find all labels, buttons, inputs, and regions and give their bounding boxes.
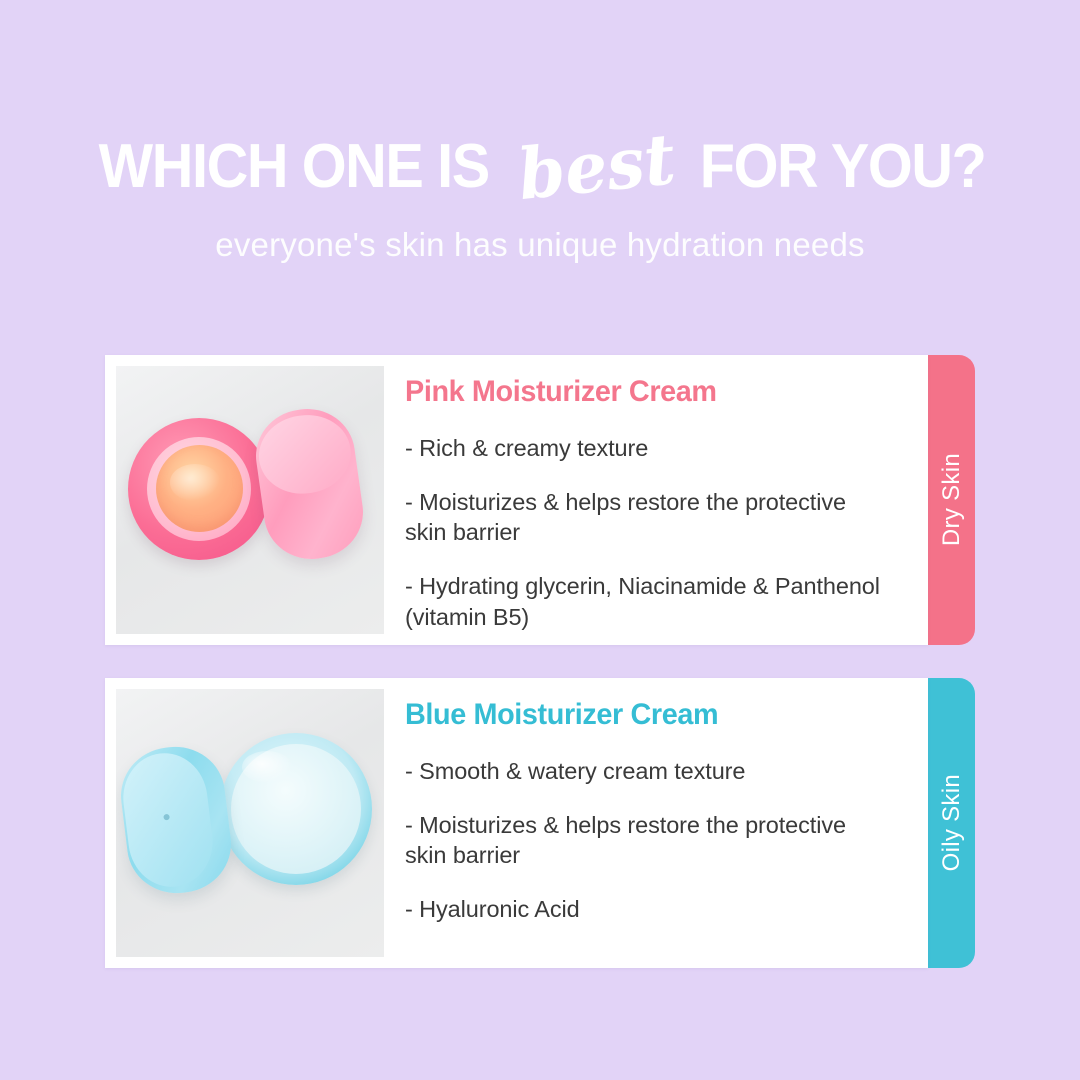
blue-jar-lid <box>116 741 237 899</box>
pink-cream-surface <box>156 445 243 532</box>
feature-item: - Rich & creamy texture <box>405 433 880 464</box>
pink-jar-lid <box>250 403 369 565</box>
feature-item: - Moisturizes & helps restore the protec… <box>405 487 880 548</box>
side-tab-label: Oily Skin <box>938 774 966 871</box>
card-body-pink: Pink Moisturizer Cream - Rich & creamy t… <box>384 366 917 632</box>
feature-item: - Moisturizes & helps restore the protec… <box>405 810 880 871</box>
page-subtitle: everyone's skin has unique hydration nee… <box>0 226 1080 264</box>
title-script-word: best <box>505 123 687 211</box>
card-surface: Blue Moisturizer Cream - Smooth & watery… <box>105 678 928 968</box>
title-part-1: WHICH ONE IS <box>99 136 489 198</box>
feature-item: - Smooth & watery cream texture <box>405 756 880 787</box>
page-header: WHICH ONE IS best FOR YOU? everyone's sk… <box>0 0 1080 264</box>
product-card-blue[interactable]: Oily Skin Blue Moisturizer Cream - Smoot… <box>105 678 975 968</box>
product-title-pink: Pink Moisturizer Cream <box>405 375 897 409</box>
card-body-blue: Blue Moisturizer Cream - Smooth & watery… <box>384 689 917 925</box>
card-surface: Pink Moisturizer Cream - Rich & creamy t… <box>105 355 928 645</box>
feature-item: - Hydrating glycerin, Niacinamide & Pant… <box>405 571 880 632</box>
blue-jar-base <box>220 733 372 885</box>
side-tab-dry-skin[interactable]: Dry Skin <box>928 355 975 645</box>
pink-jar-illustration <box>116 366 384 634</box>
feature-item: - Hyaluronic Acid <box>405 894 880 925</box>
product-image-blue <box>116 689 384 957</box>
product-card-pink[interactable]: Dry Skin Pink Moisturizer Cream - Rich &… <box>105 355 975 645</box>
side-tab-oily-skin[interactable]: Oily Skin <box>928 678 975 968</box>
side-tab-label: Dry Skin <box>938 453 966 546</box>
title-part-2: FOR YOU? <box>699 136 985 198</box>
product-image-pink <box>116 366 384 634</box>
blue-jar-illustration <box>116 689 384 957</box>
product-card-list: Dry Skin Pink Moisturizer Cream - Rich &… <box>105 355 985 1001</box>
product-title-blue: Blue Moisturizer Cream <box>405 698 897 732</box>
page-title: WHICH ONE IS best FOR YOU? <box>0 128 1080 198</box>
